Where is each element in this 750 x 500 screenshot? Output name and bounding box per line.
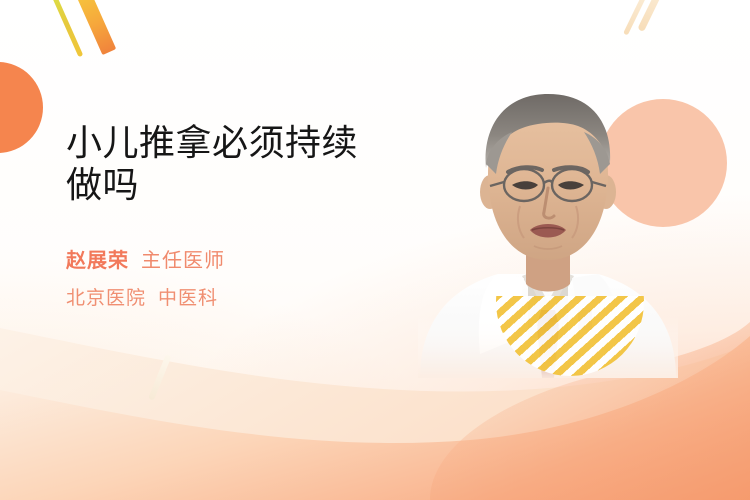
doctor-department: 中医科 xyxy=(158,288,218,309)
hospital-line: 北京医院中医科 xyxy=(66,289,426,308)
doctor-line: 赵展荣主任医师 xyxy=(66,251,426,271)
doctor-professional-title: 主任医师 xyxy=(141,250,225,272)
halfmoon-stripes-icon xyxy=(496,296,644,376)
video-cover-card: 小儿推拿必须持续 做吗 赵展荣主任医师 北京医院中医科 xyxy=(0,0,750,500)
halfmoon-stripes-decoration xyxy=(496,296,644,376)
doctor-name: 赵展荣 xyxy=(66,250,129,272)
doctor-hospital: 北京医院 xyxy=(66,288,146,309)
text-block: 小儿推拿必须持续 做吗 赵展荣主任医师 北京医院中医科 xyxy=(66,122,426,308)
page-title: 小儿推拿必须持续 做吗 xyxy=(66,122,426,207)
